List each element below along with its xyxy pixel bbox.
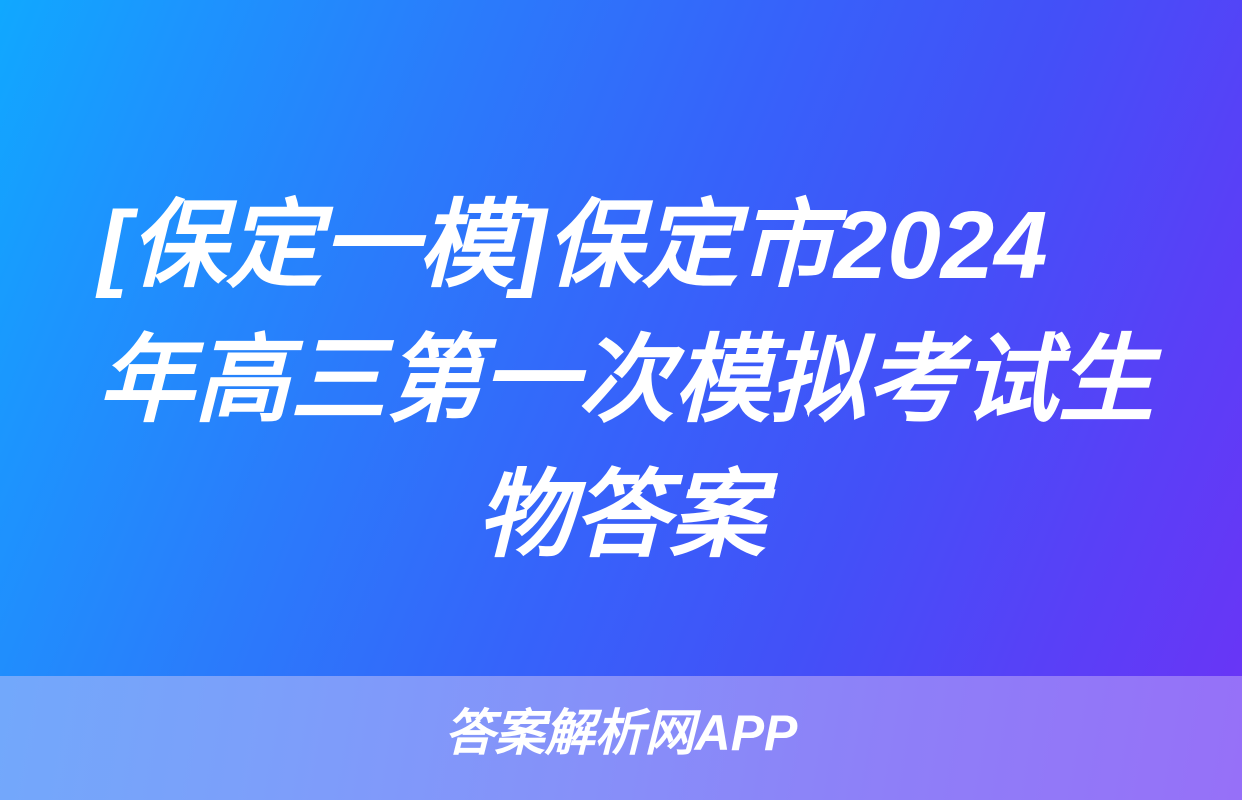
title-line-3: 物答案 (98, 448, 1144, 583)
poster-canvas: [保定一模]保定市2024 年高三第一次模拟考试生 物答案 答案解析网APP (0, 0, 1242, 800)
page-title: [保定一模]保定市2024 年高三第一次模拟考试生 物答案 (0, 178, 1242, 583)
title-line-1: [保定一模]保定市2024 (98, 178, 1144, 313)
watermark-brand-text: 答案解析网APP (0, 703, 1242, 763)
title-line-2: 年高三第一次模拟考试生 (98, 313, 1144, 448)
